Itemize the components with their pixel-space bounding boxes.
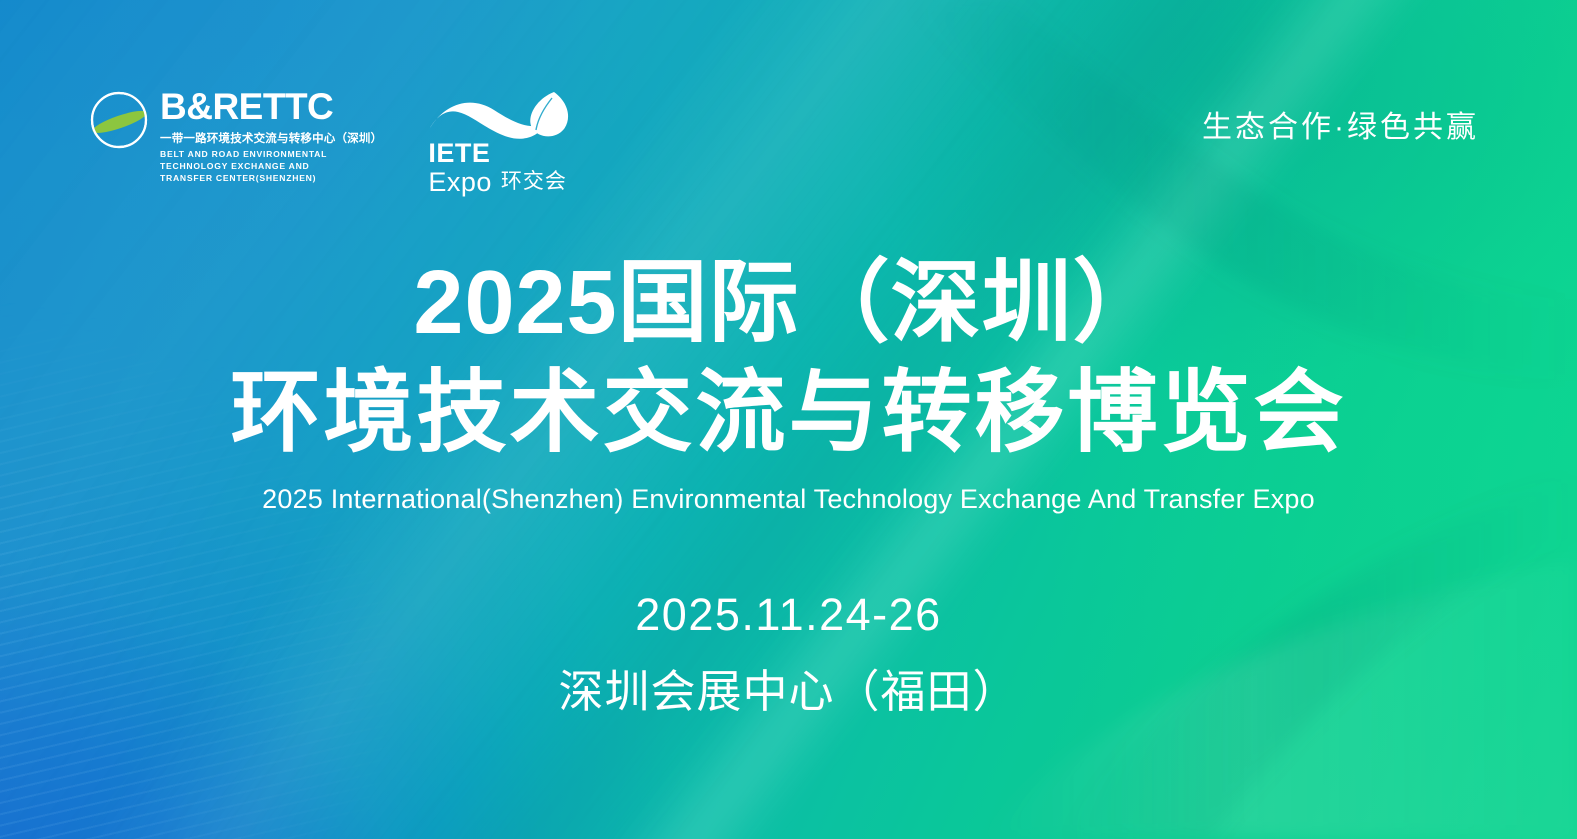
iete-name-cn: 环交会 <box>501 165 567 197</box>
event-date: 2025.11.24-26 <box>0 589 1577 641</box>
event-venue: 深圳会展中心（福田） <box>0 655 1577 720</box>
main-content: 2025国际（深圳） 环境技术交流与转移博览会 2025 Internation… <box>0 258 1577 720</box>
title-line-1: 2025国际（深圳） <box>0 258 1577 348</box>
iete-wordmark: IETE <box>428 140 492 167</box>
brettc-name-en: BELT AND ROAD ENVIRONMENTAL TECHNOLOGY E… <box>160 149 360 185</box>
iete-text-block: IETE Expo 环交会 <box>428 140 567 197</box>
brettc-wordmark: B&RETTC <box>160 88 382 125</box>
leaf-wave-icon <box>428 90 580 142</box>
iete-expo-logo[interactable]: IETE Expo 环交会 <box>428 90 580 197</box>
iete-expo-label: Expo <box>428 167 492 197</box>
logo-row: B&RETTC 一带一路环境技术交流与转移中心（深圳） BELT AND ROA… <box>88 88 580 197</box>
tagline: 生态合作·绿色共赢 <box>1202 102 1479 146</box>
circle-band-icon <box>88 89 150 151</box>
brettc-logo[interactable]: B&RETTC 一带一路环境技术交流与转移中心（深圳） BELT AND ROA… <box>88 88 382 185</box>
expo-banner: B&RETTC 一带一路环境技术交流与转移中心（深圳） BELT AND ROA… <box>0 0 1577 839</box>
subtitle-english: 2025 International(Shenzhen) Environment… <box>0 484 1577 515</box>
title-line-2: 环境技术交流与转移博览会 <box>0 368 1577 458</box>
brettc-text-block: B&RETTC 一带一路环境技术交流与转移中心（深圳） BELT AND ROA… <box>160 88 382 185</box>
brettc-name-cn: 一带一路环境技术交流与转移中心（深圳） <box>160 130 382 146</box>
